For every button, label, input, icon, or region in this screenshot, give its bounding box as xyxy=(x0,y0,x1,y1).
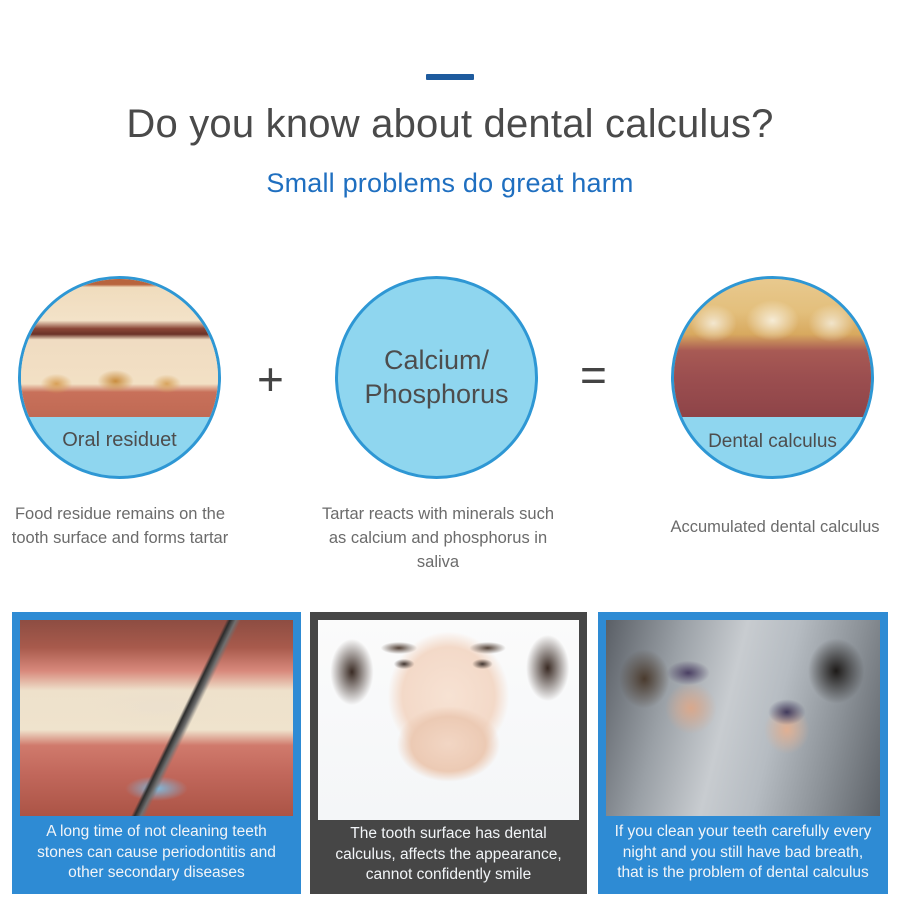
formula-step-oral-residue: Oral residuet xyxy=(18,276,221,479)
page-title: Do you know about dental calculus? xyxy=(0,102,900,146)
calcium-phosphorus-text: Calcium/ Phosphorus xyxy=(352,344,520,412)
formula-caption-oral-residue: Food residue remains on the tooth surfac… xyxy=(0,503,240,551)
couple-in-bed-photo xyxy=(606,620,880,816)
header: Do you know about dental calculus? Small… xyxy=(0,0,900,199)
card-bad-breath-caption: If you clean your teeth carefully every … xyxy=(606,816,880,886)
formula-step-calcium-phosphorus: Calcium/ Phosphorus xyxy=(335,276,538,479)
card-appearance-caption: The tooth surface has dental calculus, a… xyxy=(318,820,579,886)
formula-row: Oral residuet + Calcium/ Phosphorus = De… xyxy=(0,268,900,498)
plus-operator-icon: + xyxy=(257,356,284,402)
card-periodontitis-caption: A long time of not cleaning teeth stones… xyxy=(20,816,293,886)
woman-covering-mouth-photo xyxy=(318,620,579,820)
infographic-page: Do you know about dental calculus? Small… xyxy=(0,0,900,924)
equals-operator-icon: = xyxy=(580,352,607,398)
oral-residue-label: Oral residuet xyxy=(21,429,218,452)
symptom-cards: A long time of not cleaning teeth stones… xyxy=(0,612,900,896)
dental-calculus-circle: Dental calculus xyxy=(671,276,874,479)
oral-residue-circle: Oral residuet xyxy=(18,276,221,479)
teeth-with-plaque-photo xyxy=(21,279,218,417)
phosphorus-line: Phosphorus xyxy=(364,378,508,412)
card-bad-breath: If you clean your teeth carefully every … xyxy=(598,612,888,894)
title-divider-rule xyxy=(426,74,474,80)
calcium-phosphorus-circle: Calcium/ Phosphorus xyxy=(335,276,538,479)
mouth-with-scaler-photo xyxy=(20,620,293,816)
formula-step-dental-calculus: Dental calculus xyxy=(671,276,874,479)
page-subtitle: Small problems do great harm xyxy=(0,168,900,199)
teeth-with-calculus-photo xyxy=(674,279,871,417)
formula-caption-dental-calculus: Accumulated dental calculus xyxy=(655,516,895,540)
card-appearance: The tooth surface has dental calculus, a… xyxy=(310,612,587,894)
dental-calculus-label: Dental calculus xyxy=(674,431,871,453)
calcium-line: Calcium/ xyxy=(364,344,508,378)
formula-caption-calcium-phosphorus: Tartar reacts with minerals such as calc… xyxy=(318,503,558,575)
card-periodontitis: A long time of not cleaning teeth stones… xyxy=(12,612,301,894)
